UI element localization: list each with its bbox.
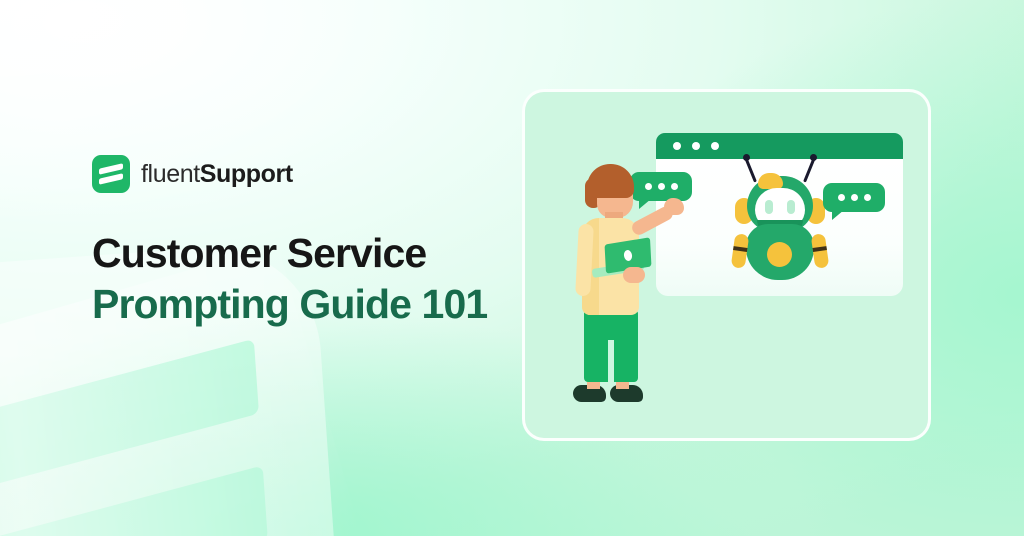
person-hair xyxy=(587,164,634,198)
robot-eye-right xyxy=(787,200,795,214)
logo-bar-bottom xyxy=(99,173,123,184)
robot-antenna-left xyxy=(744,157,757,182)
person-hand-raised xyxy=(664,198,684,215)
robot-antenna-right xyxy=(803,157,816,182)
brand-name-light: fluent xyxy=(141,160,200,188)
chat-bubble-right-icon xyxy=(823,183,885,212)
robot-chest-light xyxy=(767,242,792,267)
browser-dot-2-icon xyxy=(692,142,700,150)
person-hand-on-laptop xyxy=(623,267,645,283)
browser-dot-3-icon xyxy=(711,142,719,150)
robot-eye-left xyxy=(765,200,773,214)
person-leg-gap xyxy=(608,340,614,384)
headline-line-1: Customer Service xyxy=(92,231,522,277)
logo-bar-top xyxy=(99,163,123,174)
support-agent-illustration xyxy=(561,164,677,404)
bubble-dot xyxy=(864,194,871,201)
robot-arm-band-left xyxy=(733,246,747,252)
brand-name-bold: Support xyxy=(200,160,293,188)
headline-line-2: Prompting Guide 101 xyxy=(92,282,522,328)
watermark-bar-top xyxy=(0,339,259,503)
robot-arm-band-right xyxy=(813,246,827,252)
brand-wordmark: fluentSupport xyxy=(141,160,293,189)
illustration-canvas xyxy=(525,92,928,438)
brand-logo[interactable]: fluentSupport xyxy=(92,155,522,193)
banner-root: fluentSupport Customer Service Prompting… xyxy=(0,0,1024,536)
browser-dot-1-icon xyxy=(673,142,681,150)
bubble-dot xyxy=(851,194,858,201)
robot-antenna-tip-right xyxy=(810,154,817,161)
robot-arm-left xyxy=(731,233,750,269)
bubble-dot xyxy=(838,194,845,201)
left-content: fluentSupport Customer Service Prompting… xyxy=(92,155,522,328)
watermark-bar-bottom xyxy=(0,465,268,536)
chatbot-robot-icon xyxy=(734,154,826,279)
robot-antenna-tip-left xyxy=(743,154,750,161)
illustration-card xyxy=(522,89,931,441)
page-title: Customer Service Prompting Guide 101 xyxy=(92,231,522,328)
robot-crest xyxy=(758,173,783,189)
fluent-support-logo-mark-icon xyxy=(92,155,130,193)
